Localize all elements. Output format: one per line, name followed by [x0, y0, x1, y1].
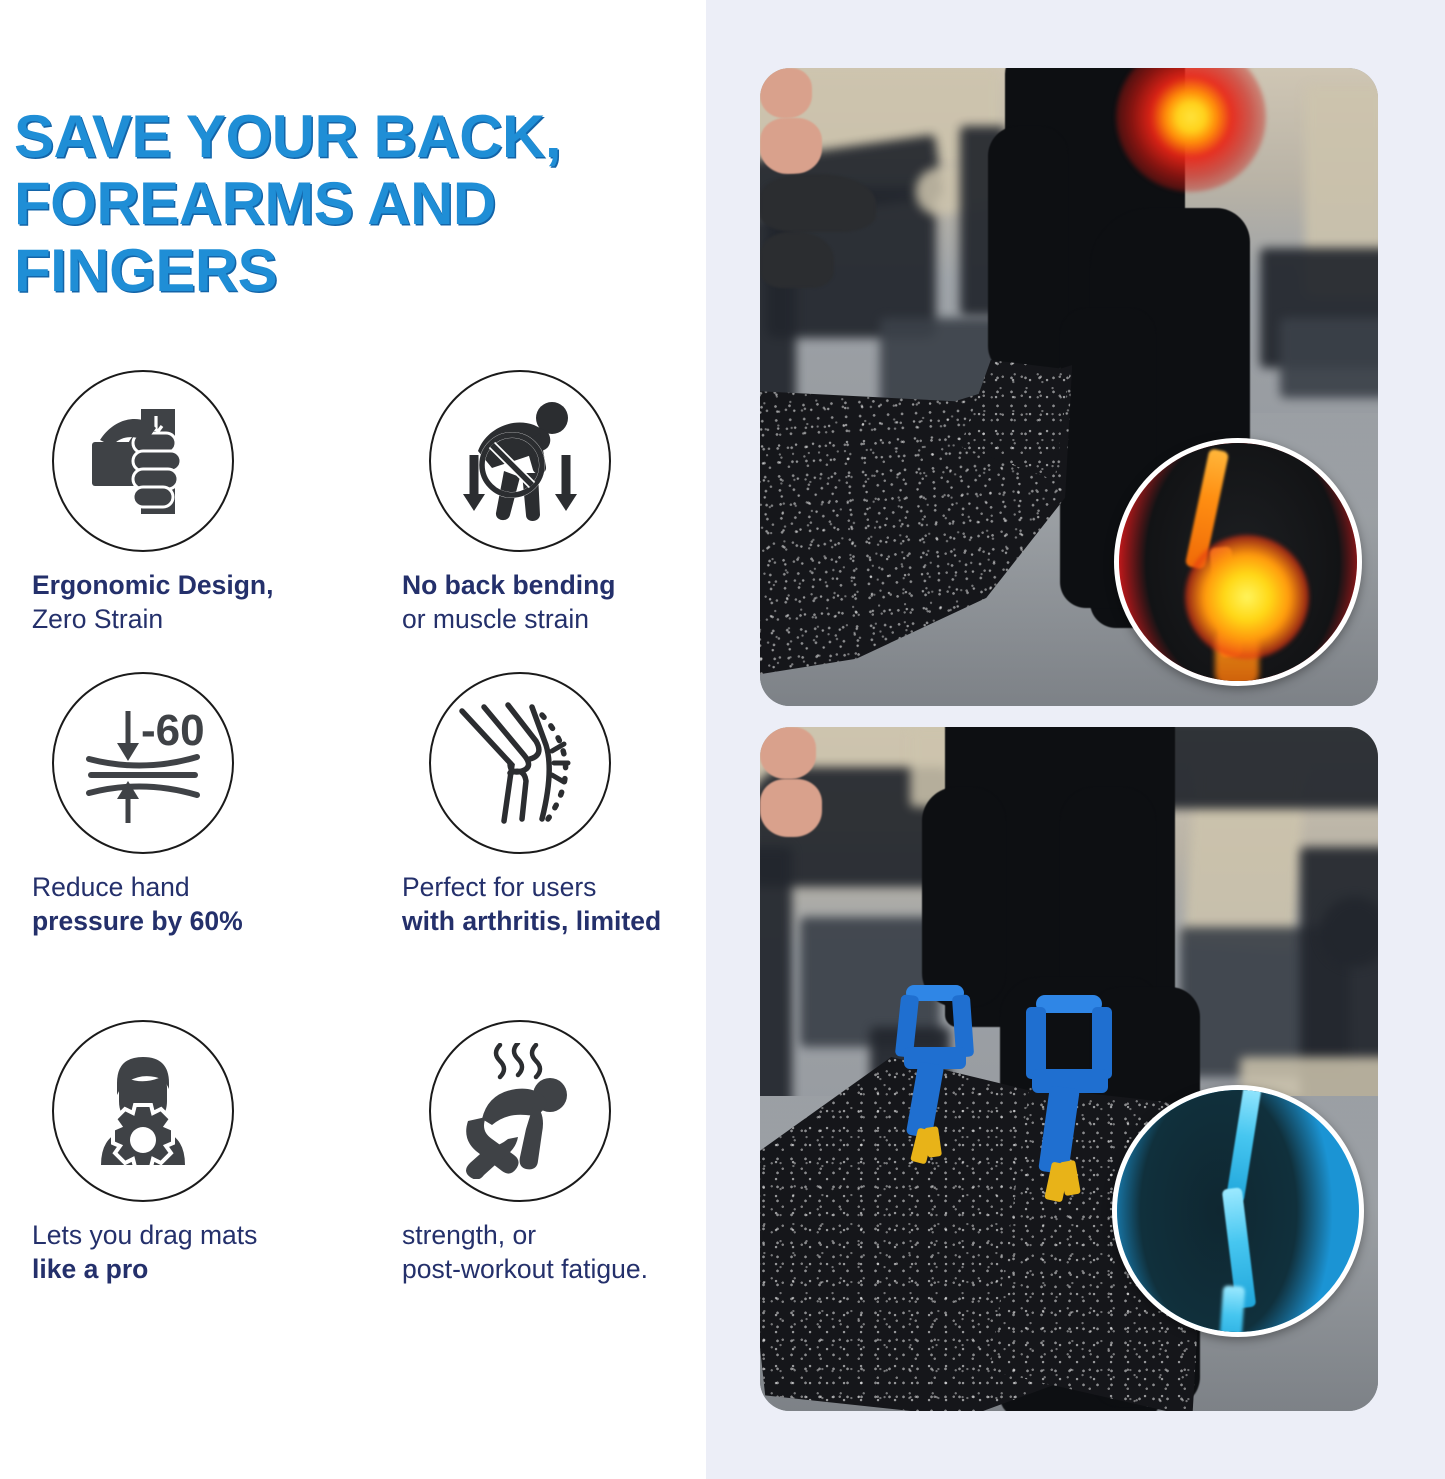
feature-caption-line-2: pressure by 60%	[32, 905, 383, 939]
feature-item-ergonomic-design: Ergonomic Design, Zero Strain	[0, 370, 383, 672]
feature-caption: strength, or post-workout fatigue.	[402, 1219, 706, 1287]
feature-caption-line-1: No back bending	[402, 569, 706, 603]
feature-row: -60 Reduce hand pressure by 60%	[0, 672, 706, 1020]
feature-caption-line-1: Reduce hand	[32, 871, 383, 905]
feature-caption: Perfect for users with arthritis, limite…	[402, 871, 706, 939]
feature-caption-line-2: or muscle strain	[402, 603, 706, 637]
fatigued-person-icon	[429, 1020, 611, 1202]
feature-caption: Reduce hand pressure by 60%	[32, 871, 383, 939]
svg-text:-60: -60	[141, 706, 205, 755]
feature-row: Ergonomic Design, Zero Strain	[0, 370, 706, 672]
headline-line-3: FINGERS	[14, 237, 277, 304]
person-shoe-left	[760, 174, 876, 232]
left-content-panel: SAVE YOUR BACK, FOREARMS AND FINGERS	[0, 0, 706, 1479]
feature-item-pressure-reduction: -60 Reduce hand pressure by 60%	[0, 672, 383, 1020]
person-hand-left	[760, 727, 816, 779]
feature-caption-line-2: post-workout fatigue.	[402, 1253, 706, 1287]
background-equipment	[1160, 727, 1378, 809]
joint-flexibility-icon	[429, 672, 611, 854]
photo-column	[706, 0, 1445, 1479]
feature-caption: Lets you drag mats like a pro	[32, 1219, 383, 1287]
feature-item-post-workout-fatigue: strength, or post-workout fatigue.	[383, 1020, 706, 1365]
pain-hotspot	[1185, 535, 1309, 659]
feature-caption-line-1: Perfect for users	[402, 871, 706, 905]
no-back-bending-icon	[429, 370, 611, 552]
feature-caption-line-1: Ergonomic Design,	[32, 569, 383, 603]
person-shoe-right	[760, 232, 834, 288]
person-hand-right	[760, 779, 822, 837]
photo-dragging-mat-by-hand	[760, 68, 1378, 706]
headline-line-2: FOREARMS AND	[14, 170, 496, 237]
feature-item-arthritis-friendly: Perfect for users with arthritis, limite…	[383, 672, 706, 1020]
inset-healthy-spine-xray	[1112, 1085, 1364, 1337]
pressure-reduction-60-icon: -60	[52, 672, 234, 854]
xray-image	[1119, 443, 1357, 681]
xray-image	[1117, 1090, 1359, 1332]
person-fist	[760, 118, 822, 174]
headline-line-1: SAVE YOUR BACK,	[14, 103, 561, 170]
person-hand	[760, 68, 812, 118]
background-equipment	[1280, 318, 1378, 398]
inset-inflamed-spine-xray	[1114, 438, 1362, 686]
person-arm	[988, 126, 1068, 376]
mat-clamp-tool-left	[892, 985, 988, 1185]
feature-caption-line-1: Lets you drag mats	[32, 1219, 383, 1253]
photo-carrying-mat-with-clamps	[760, 727, 1378, 1411]
feature-item-drag-like-a-pro: Lets you drag mats like a pro	[0, 1020, 383, 1365]
page-title: SAVE YOUR BACK, FOREARMS AND FINGERS	[14, 103, 714, 305]
tool-jaw	[924, 1126, 942, 1158]
person-gear-pro-icon	[52, 1020, 234, 1202]
person-arm-left	[922, 787, 1006, 1007]
feature-row: Lets you drag mats like a pro	[0, 1020, 706, 1365]
feature-item-no-back-bending: No back bending or muscle strain	[383, 370, 706, 672]
feature-caption: No back bending or muscle strain	[402, 569, 706, 637]
feature-caption-line-2: with arthritis, limited	[402, 905, 706, 939]
spine-sacrum	[1219, 1285, 1245, 1337]
feature-grid: Ergonomic Design, Zero Strain	[0, 370, 706, 1365]
hand-grip-bar-icon	[52, 370, 234, 552]
infographic-stage: SAVE YOUR BACK, FOREARMS AND FINGERS	[0, 0, 1445, 1479]
feature-caption: Ergonomic Design, Zero Strain	[32, 569, 383, 637]
mat-clamp-tool-right	[1018, 995, 1128, 1215]
feature-caption-line-1: strength, or	[402, 1219, 706, 1253]
feature-caption-line-2: like a pro	[32, 1253, 383, 1287]
feature-caption-line-2: Zero Strain	[32, 603, 383, 637]
